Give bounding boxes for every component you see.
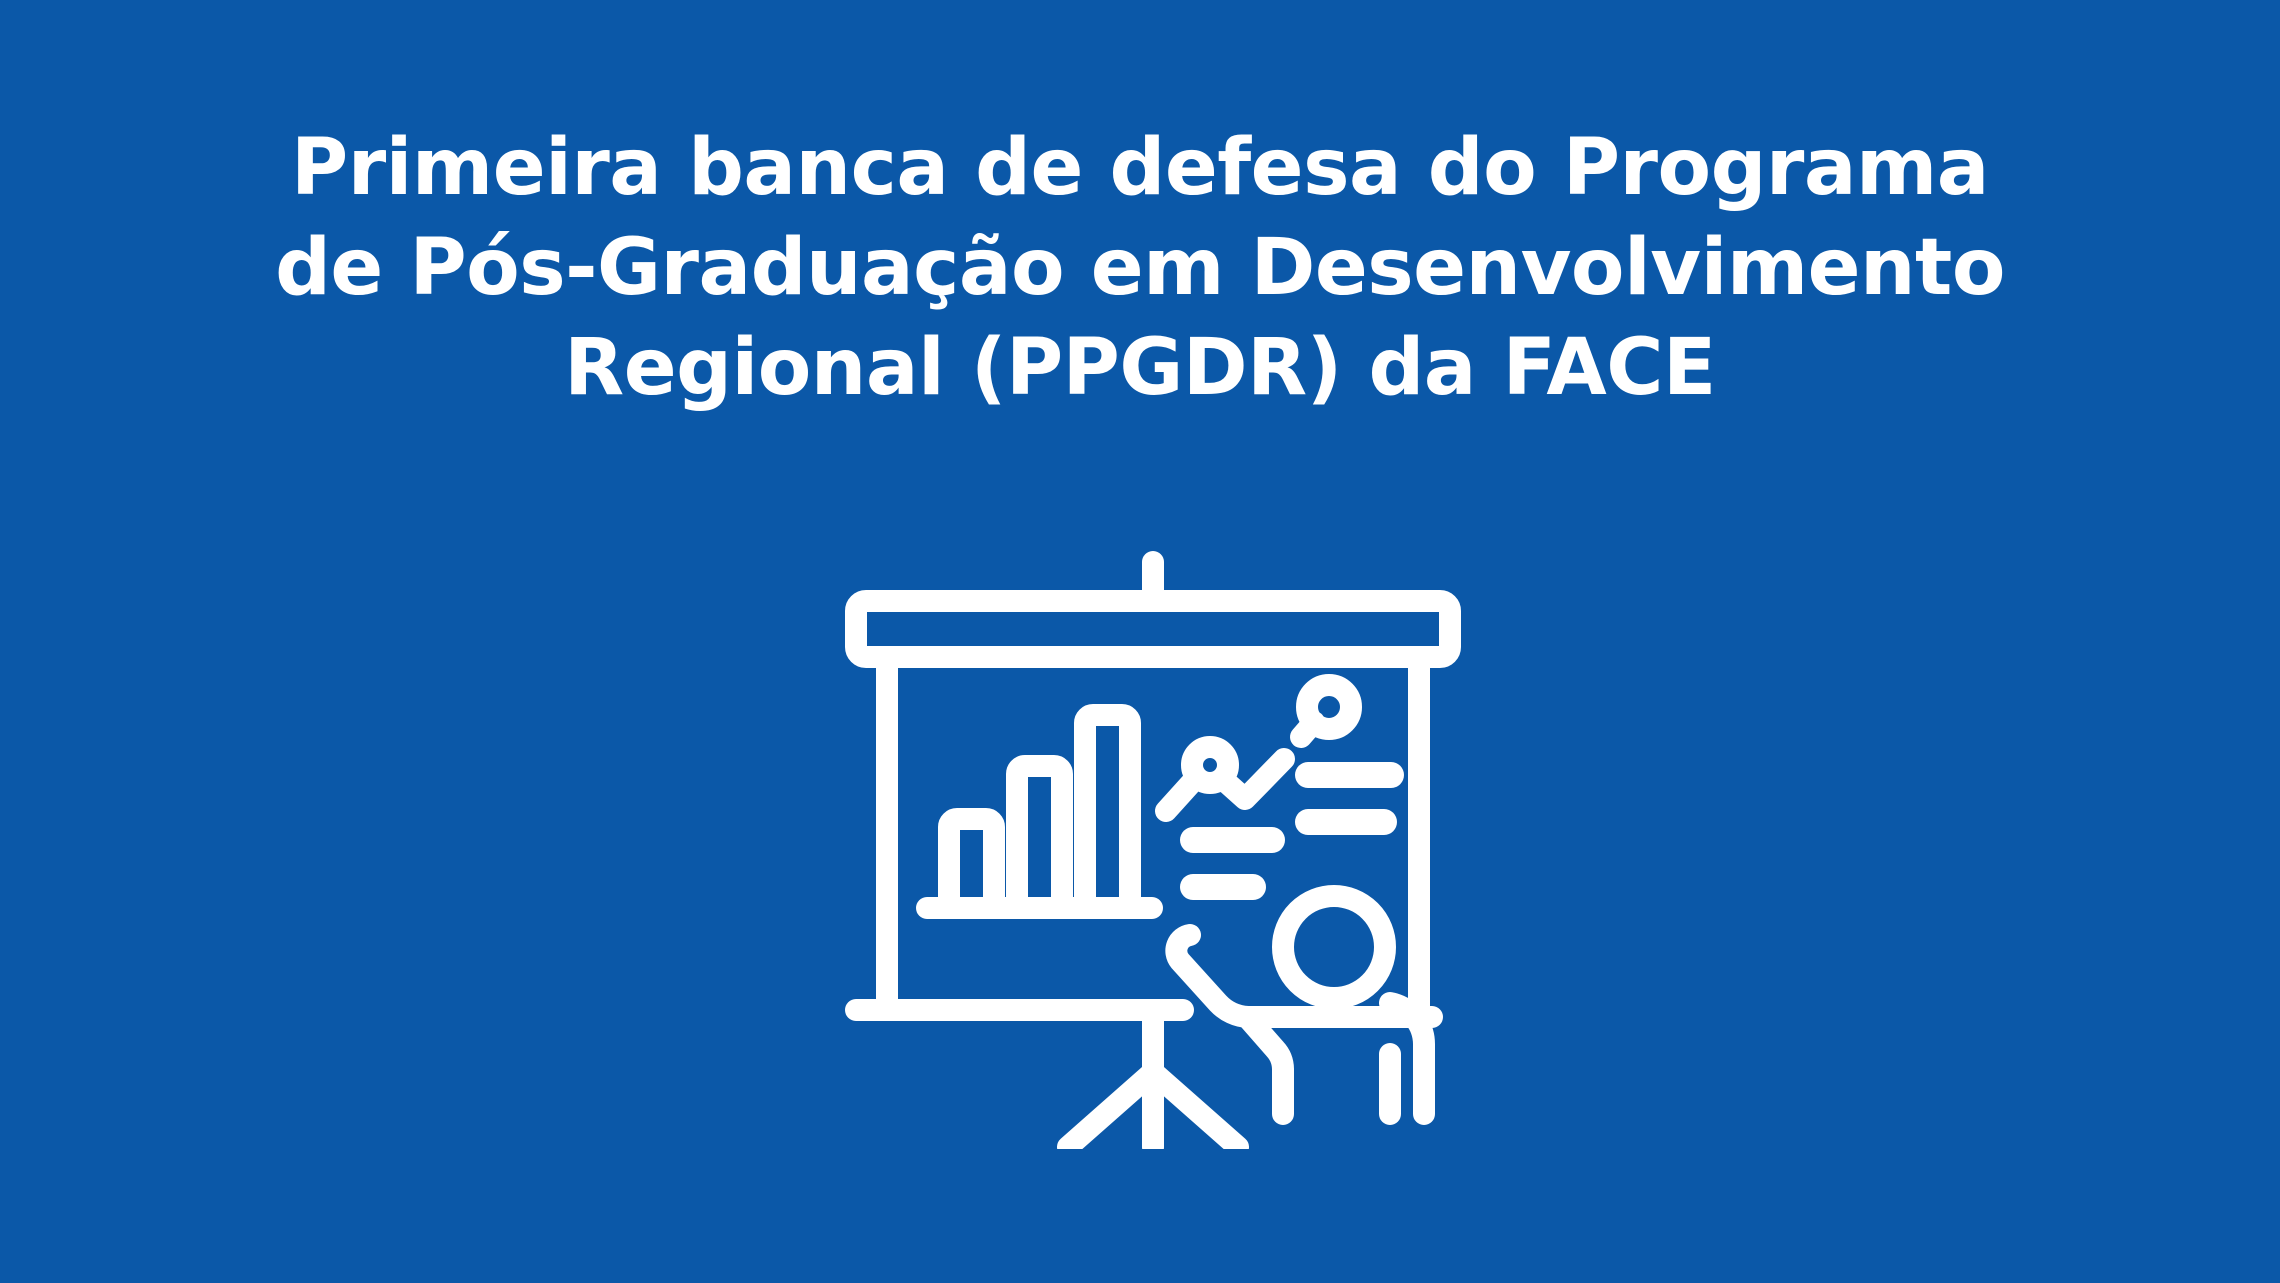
banner-card: Primeira banca de defesa do Programa de … [0,0,2280,1283]
tripod-right-leg-icon [1153,1072,1238,1147]
illustration-container [790,537,1490,1149]
line-chart-marker-2-icon [1307,685,1351,729]
bar-chart-bar-2-icon [1017,766,1062,908]
page-title: Primeira banca de defesa do Programa de … [60,118,2220,418]
presentation-board-icon [790,537,1490,1149]
presenter-body-icon [1247,1017,1283,1114]
bar-chart-bar-1-icon [949,819,994,908]
line-chart-marker-1-icon [1192,747,1228,783]
board-top-bar-icon [856,601,1450,657]
presenter-head-icon [1283,896,1385,998]
tripod-left-leg-icon [1068,1072,1153,1147]
bar-chart-bar-3-icon [1085,715,1130,908]
title-block: Primeira banca de defesa do Programa de … [0,118,2280,418]
